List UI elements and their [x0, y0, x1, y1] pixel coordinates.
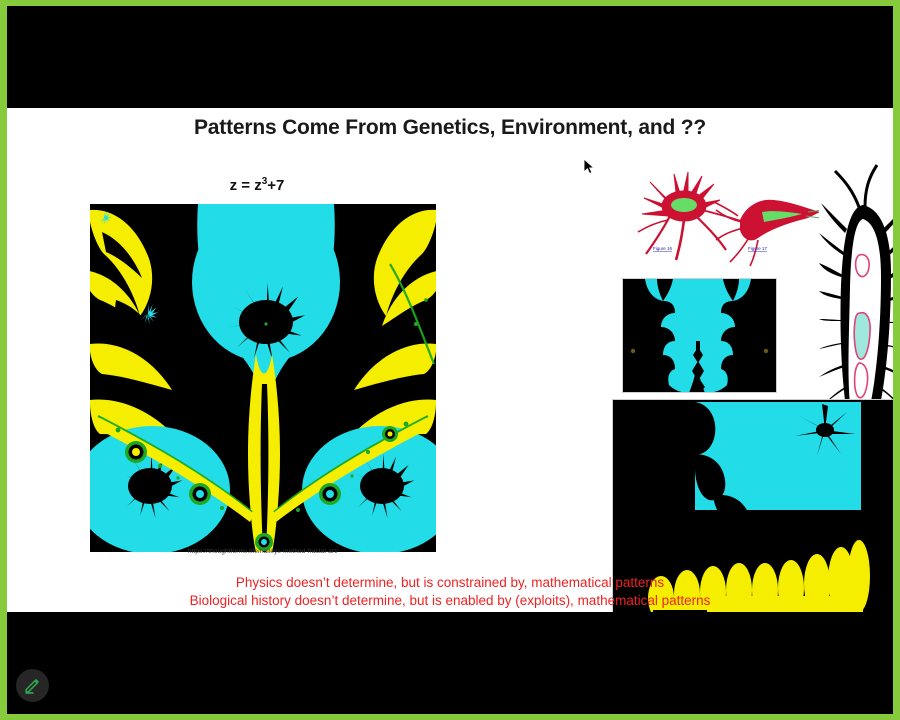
edit-button[interactable] — [16, 669, 49, 702]
top-letterbox-bar — [7, 6, 893, 108]
claim-line-physics: Physics doesn’t determine, but is constr… — [7, 574, 893, 592]
claims-text-block: Physics doesn’t determine, but is constr… — [7, 574, 893, 610]
figure-caption-left: Figure 16 — [653, 246, 673, 251]
presentation-window: Patterns Come From Genetics, Environment… — [0, 0, 900, 720]
figure-caption-right: Figure 17 — [748, 246, 768, 251]
slide-title: Patterns Come From Genetics, Environment… — [7, 116, 893, 140]
main-fractal-svg — [90, 204, 436, 552]
secondary-fractal-image — [622, 278, 777, 393]
claim-line-biology: Biological history doesn’t determine, bu… — [7, 592, 893, 610]
slide-canvas[interactable]: Patterns Come From Genetics, Environment… — [7, 108, 893, 612]
fractal-source-credit: https://thoughtforms.life/halleys-method… — [83, 548, 443, 555]
main-fractal-image — [90, 204, 436, 552]
fractal-equation-label: z = z3+7 — [167, 176, 347, 194]
equation-prefix: z = z — [230, 177, 262, 194]
equation-suffix: +7 — [267, 177, 284, 194]
bottom-letterbox-bar — [7, 618, 893, 714]
secondary-fractal-svg — [623, 279, 777, 393]
pencil-icon — [23, 676, 42, 695]
